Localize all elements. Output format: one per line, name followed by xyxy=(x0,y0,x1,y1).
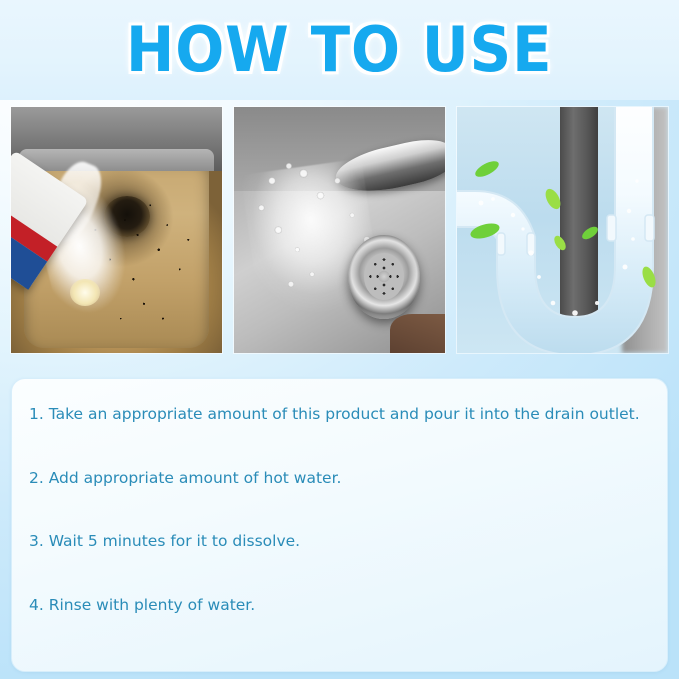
water-highlight xyxy=(70,279,100,306)
photo-clean-drain-pipe xyxy=(457,107,668,353)
page-title: HOW TO USE xyxy=(126,19,552,81)
p-trap-pipe-illustration xyxy=(457,107,668,353)
instruction-step-4: 4. Rinse with plenty of water. xyxy=(29,596,659,615)
photo-row xyxy=(11,107,668,353)
photo-dirty-sink-pouring-powder xyxy=(11,107,222,353)
instruction-step-1: 1. Take an appropriate amount of this pr… xyxy=(29,405,659,424)
drain-strainer xyxy=(348,235,420,319)
instruction-step-2: 2. Add appropriate amount of hot water. xyxy=(29,469,659,488)
infographic-page: HOW TO USE xyxy=(0,0,679,679)
instruction-steps-list: 1. Take an appropriate amount of this pr… xyxy=(29,405,659,614)
title-banner: HOW TO USE xyxy=(0,0,679,100)
photo-sink-running-water xyxy=(234,107,445,353)
photo-corner-shadow xyxy=(390,314,445,353)
instruction-step-3: 3. Wait 5 minutes for it to dissolve. xyxy=(29,532,659,551)
instructions-card: 1. Take an appropriate amount of this pr… xyxy=(11,378,668,672)
